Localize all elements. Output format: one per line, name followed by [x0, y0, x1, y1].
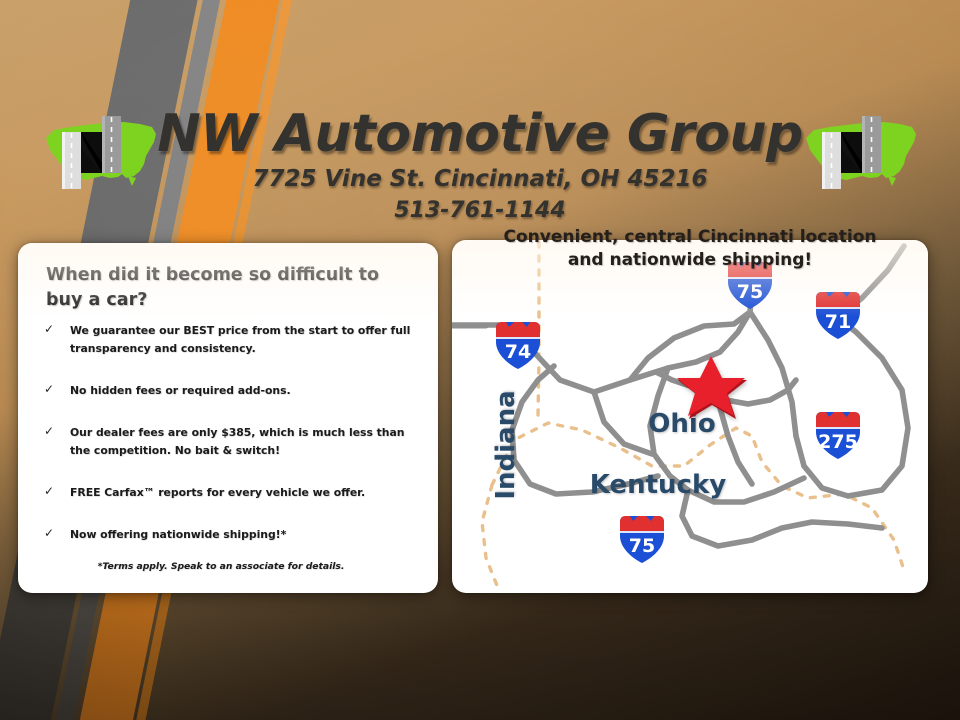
benefits-list: ✓ We guarantee our BEST price from the s…: [42, 321, 422, 567]
cincinnati-region-map: Indiana Ohio Kentucky 74 75: [452, 240, 928, 593]
check-mark-icon: ✓: [44, 423, 54, 439]
usa-map-road-n-logo-icon: [800, 108, 922, 192]
list-item-label: No hidden fees or required add-ons.: [70, 384, 291, 397]
check-mark-icon: ✓: [44, 525, 54, 541]
list-item: ✓ Now offering nationwide shipping!*: [42, 525, 422, 543]
interstate-number-label: 75: [629, 535, 655, 557]
check-mark-icon: ✓: [44, 381, 54, 397]
interstate-shield-75-north: 75: [728, 262, 772, 309]
state-label-kentucky: Kentucky: [590, 470, 726, 500]
list-item: ✓ FREE Carfax™ reports for every vehicle…: [42, 483, 422, 501]
map-panel: Indiana Ohio Kentucky 74 75: [452, 240, 928, 593]
state-label-indiana: Indiana: [491, 390, 521, 499]
list-item-label: FREE Carfax™ reports for every vehicle w…: [70, 486, 365, 499]
list-item: ✓ We guarantee our BEST price from the s…: [42, 321, 422, 357]
interstate-number-label: 275: [818, 431, 858, 453]
brand-phone[interactable]: 513-761-1144: [0, 198, 960, 223]
value-proposition-panel: When did it become so difficult to buy a…: [18, 243, 438, 593]
interstate-number-label: 74: [505, 341, 531, 363]
interstate-number-label: 71: [825, 311, 851, 333]
logo-right: [800, 108, 922, 192]
list-item-label: Our dealer fees are only $385, which is …: [70, 426, 404, 457]
state-label-ohio: Ohio: [648, 409, 715, 439]
slide-canvas: NW Automotive Group 7725 Vine St. Cincin…: [0, 0, 960, 720]
interstate-shield-275: 275: [816, 412, 860, 459]
interstate-shield-74: 74: [496, 322, 540, 369]
list-item: ✓ Our dealer fees are only $385, which i…: [42, 423, 422, 459]
list-item-label: Now offering nationwide shipping!*: [70, 528, 286, 541]
terms-disclaimer: *Terms apply. Speak to an associate for …: [18, 561, 424, 572]
panel-heading: When did it become so difficult to buy a…: [46, 263, 406, 313]
interstate-shield-75-south: 75: [620, 516, 664, 563]
header: NW Automotive Group 7725 Vine St. Cincin…: [0, 0, 960, 235]
check-mark-icon: ✓: [44, 483, 54, 499]
list-item-label: We guarantee our BEST price from the sta…: [70, 324, 410, 355]
interstate-number-label: 75: [737, 281, 763, 303]
check-mark-icon: ✓: [44, 321, 54, 337]
list-item: ✓ No hidden fees or required add-ons.: [42, 381, 422, 399]
